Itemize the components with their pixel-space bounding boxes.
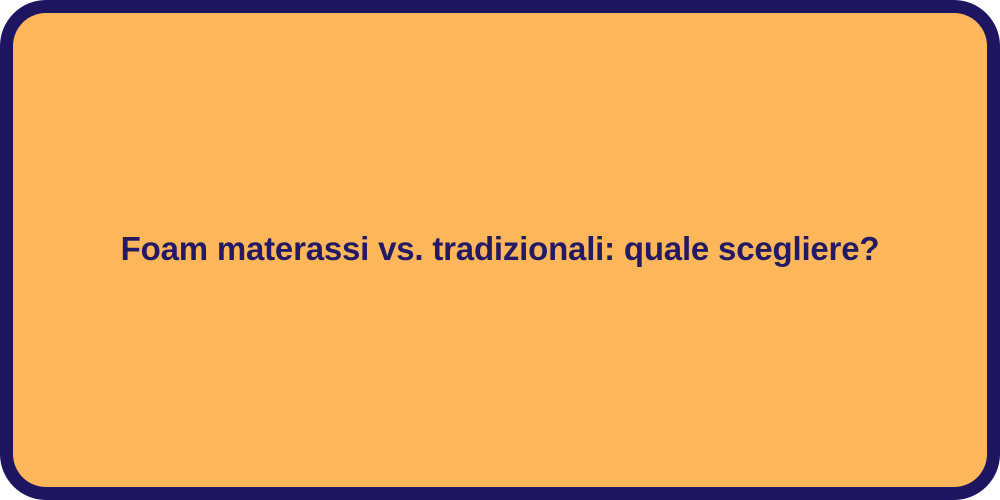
card-content-area: Foam materassi vs. tradizionali: quale s… [13,13,987,487]
article-card[interactable]: Foam materassi vs. tradizionali: quale s… [0,0,1000,500]
title-container: Foam materassi vs. tradizionali: quale s… [13,229,987,269]
page-title: Foam materassi vs. tradizionali: quale s… [121,229,880,269]
